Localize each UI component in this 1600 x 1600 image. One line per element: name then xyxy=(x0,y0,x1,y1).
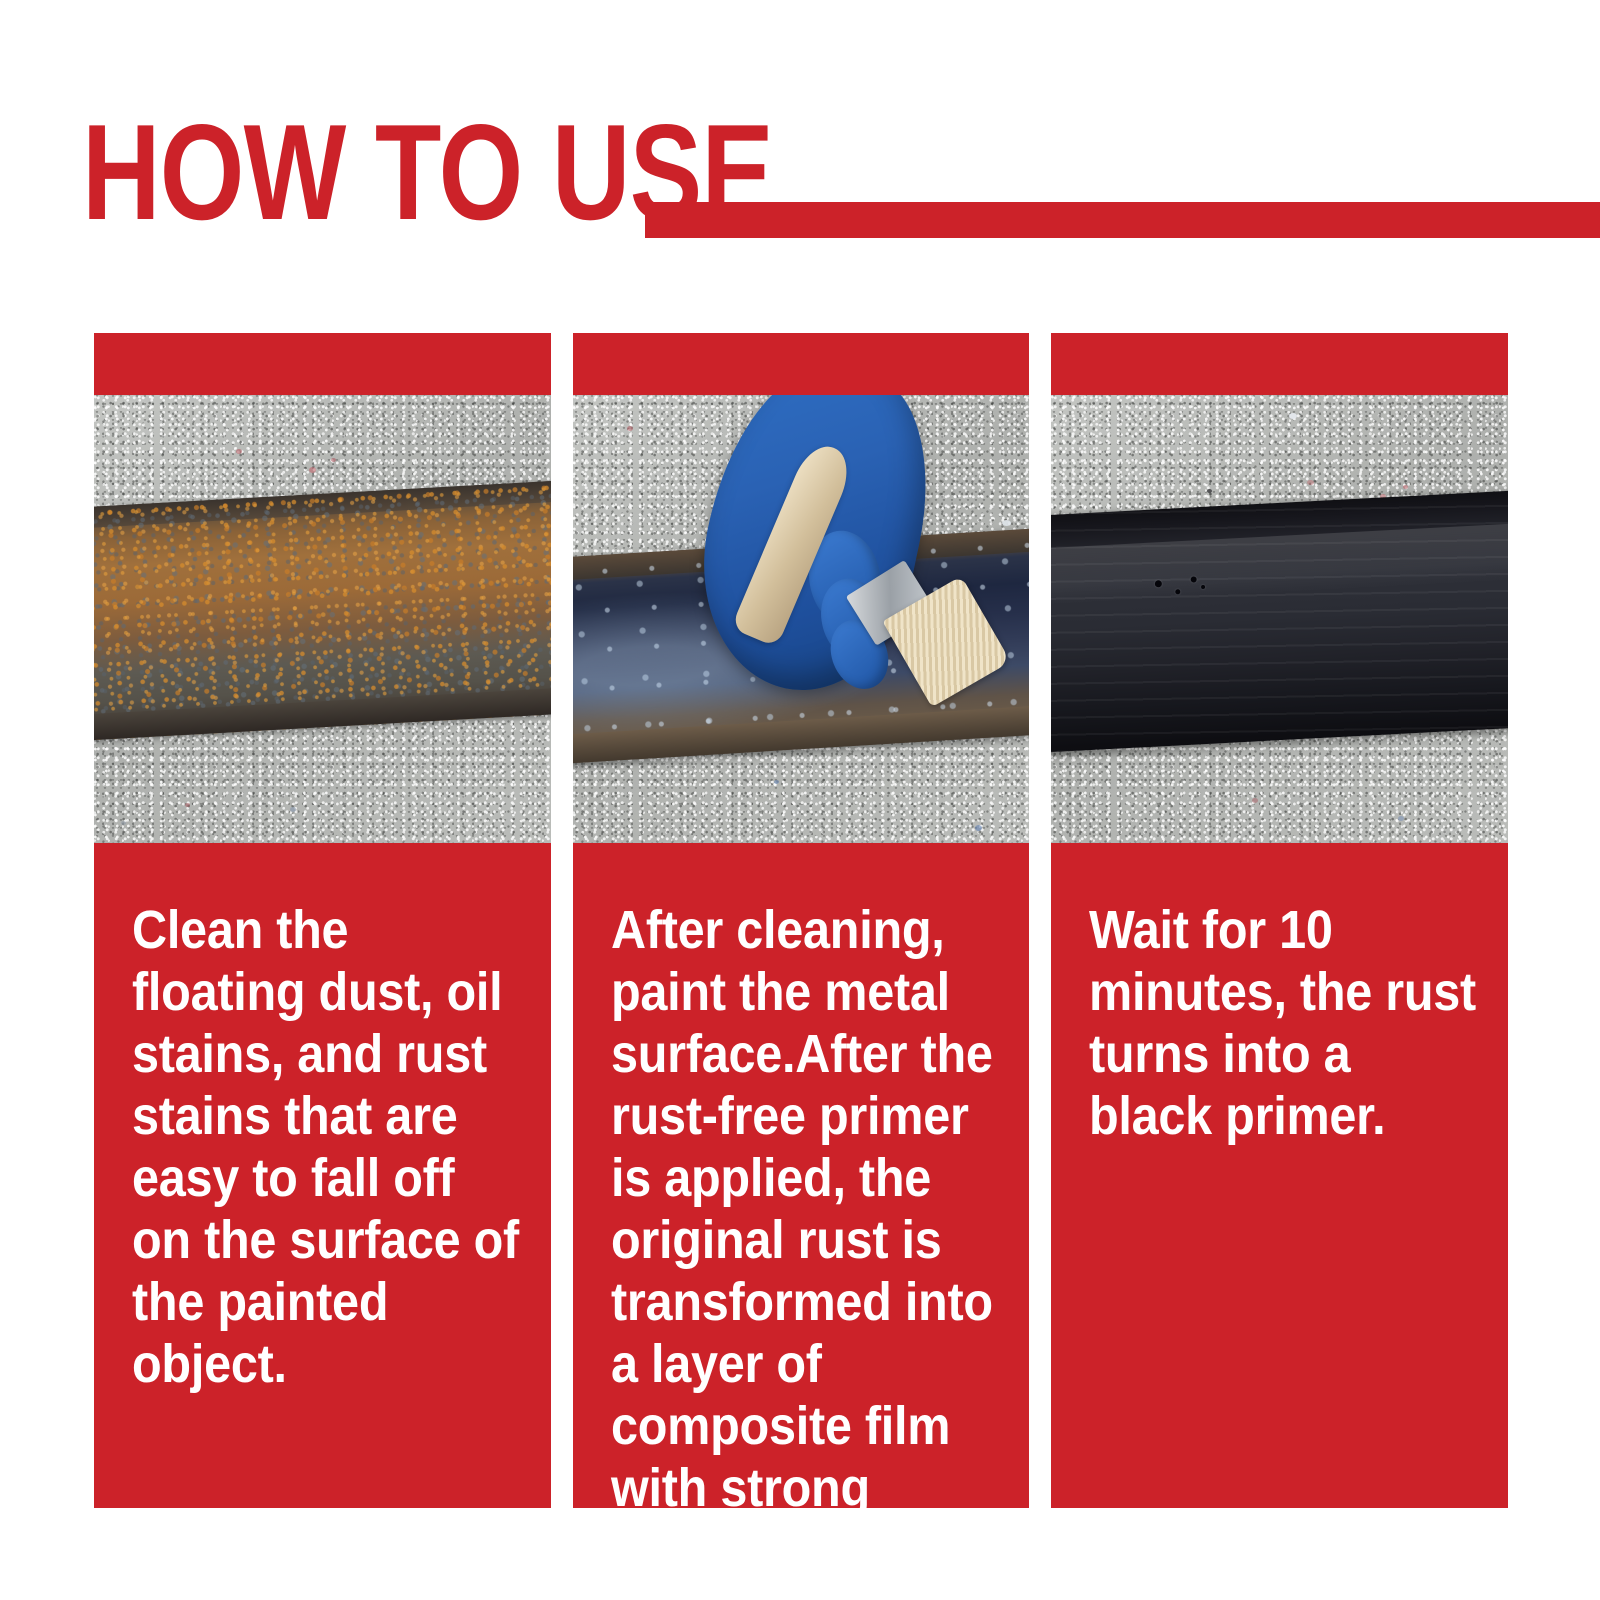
paint-speck xyxy=(121,821,126,825)
header: HOW TO USE xyxy=(0,0,1600,300)
steps-row: Clean the floating dust, oil stains, and… xyxy=(94,333,1508,1508)
black-primed-beam xyxy=(1051,489,1508,753)
step-photo-1 xyxy=(94,395,551,843)
rusty-beam xyxy=(94,479,551,740)
card-top-band-1 xyxy=(94,333,551,395)
step-caption-block-2: After cleaning, paint the metal surface.… xyxy=(573,843,1030,1508)
paint-speck xyxy=(309,467,316,473)
step-photo-2 xyxy=(573,395,1030,843)
how-to-use-infographic: HOW TO USE Cl xyxy=(0,0,1600,1600)
brush-streaks xyxy=(1051,489,1508,753)
paint-bubble xyxy=(1190,576,1196,582)
paint-speck xyxy=(774,780,779,784)
paint-bubble xyxy=(1201,585,1205,589)
step-card-2: After cleaning, paint the metal surface.… xyxy=(573,333,1030,1508)
paint-speck xyxy=(1207,489,1212,493)
step-caption-1: Clean the floating dust, oil stains, and… xyxy=(132,899,520,1395)
paint-speck xyxy=(236,449,242,454)
paint-speck xyxy=(1403,485,1408,489)
step-caption-block-1: Clean the floating dust, oil stains, and… xyxy=(94,843,551,1508)
step-caption-3: Wait for 10 minutes, the rust turns into… xyxy=(1089,899,1477,1147)
paint-speck xyxy=(185,803,190,807)
step-card-3: Wait for 10 minutes, the rust turns into… xyxy=(1051,333,1508,1508)
card-top-band-3 xyxy=(1051,333,1508,395)
paint-speck xyxy=(975,825,982,831)
step-card-1: Clean the floating dust, oil stains, and… xyxy=(94,333,551,1508)
title-underline-bar xyxy=(645,202,1600,238)
paint-bubble xyxy=(1155,580,1162,587)
step-caption-2: After cleaning, paint the metal surface.… xyxy=(611,899,999,1508)
step-caption-block-3: Wait for 10 minutes, the rust turns into… xyxy=(1051,843,1508,1508)
paint-speck xyxy=(1289,413,1297,419)
step-photo-3 xyxy=(1051,395,1508,843)
card-top-band-2 xyxy=(573,333,1030,395)
